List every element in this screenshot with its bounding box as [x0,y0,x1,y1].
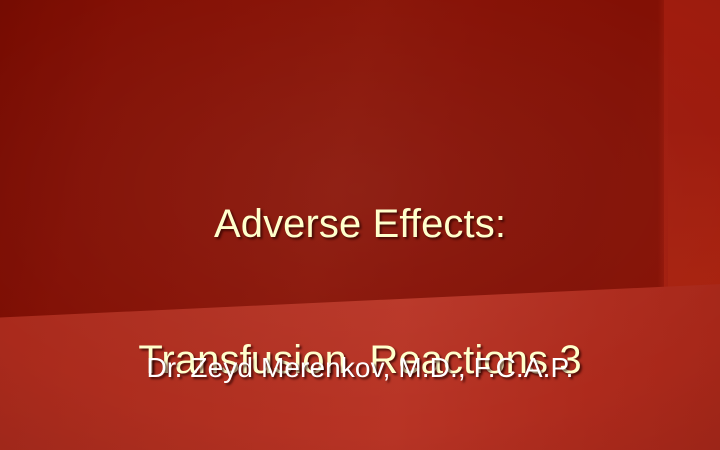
slide-subtitle-line-presenter: Dr. Zeyd Merenkov, M.D., F.C.A.P. [0,346,720,390]
slide-title-line-1: Adverse Effects: [0,202,720,247]
slide-subtitle: Dr. Zeyd Merenkov, M.D., F.C.A.P. Head, … [0,258,720,450]
presentation-slide: Adverse Effects: Transfusion Reactions 3… [0,0,720,450]
slide-content: Adverse Effects: Transfusion Reactions 3… [0,0,720,450]
